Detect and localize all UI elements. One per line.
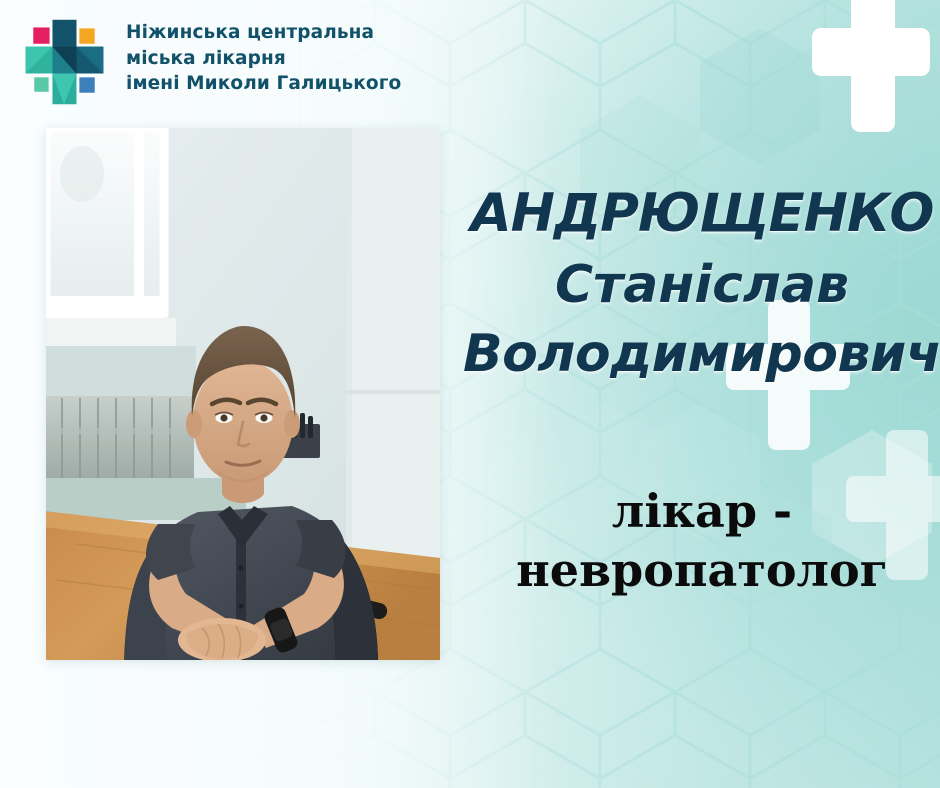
doctor-patronymic: Володимирович <box>452 327 940 382</box>
medical-cross-mosaic-icon <box>16 14 112 110</box>
doctor-photo-frame <box>46 128 440 660</box>
doctor-portrait <box>46 128 440 660</box>
hospital-name-text: Ніжинська центральна міська лікарня імен… <box>126 20 401 97</box>
doctor-first-name: Станіслав <box>452 258 940 313</box>
doctor-surname: АНДРЮЩЕНКО <box>452 186 940 242</box>
doctor-role-line-2: невропатолог <box>452 541 940 600</box>
doctor-role-line-1: лікар - <box>452 482 940 541</box>
medical-cross-icon-top-right <box>812 0 930 132</box>
doctor-profile-card: Ніжинська центральна міська лікарня імен… <box>0 0 940 788</box>
hospital-logo: Ніжинська центральна міська лікарня імен… <box>16 14 401 110</box>
doctor-name-block: АНДРЮЩЕНКО Станіслав Володимирович <box>452 186 940 382</box>
doctor-role-block: лікар - невропатолог <box>452 482 940 600</box>
